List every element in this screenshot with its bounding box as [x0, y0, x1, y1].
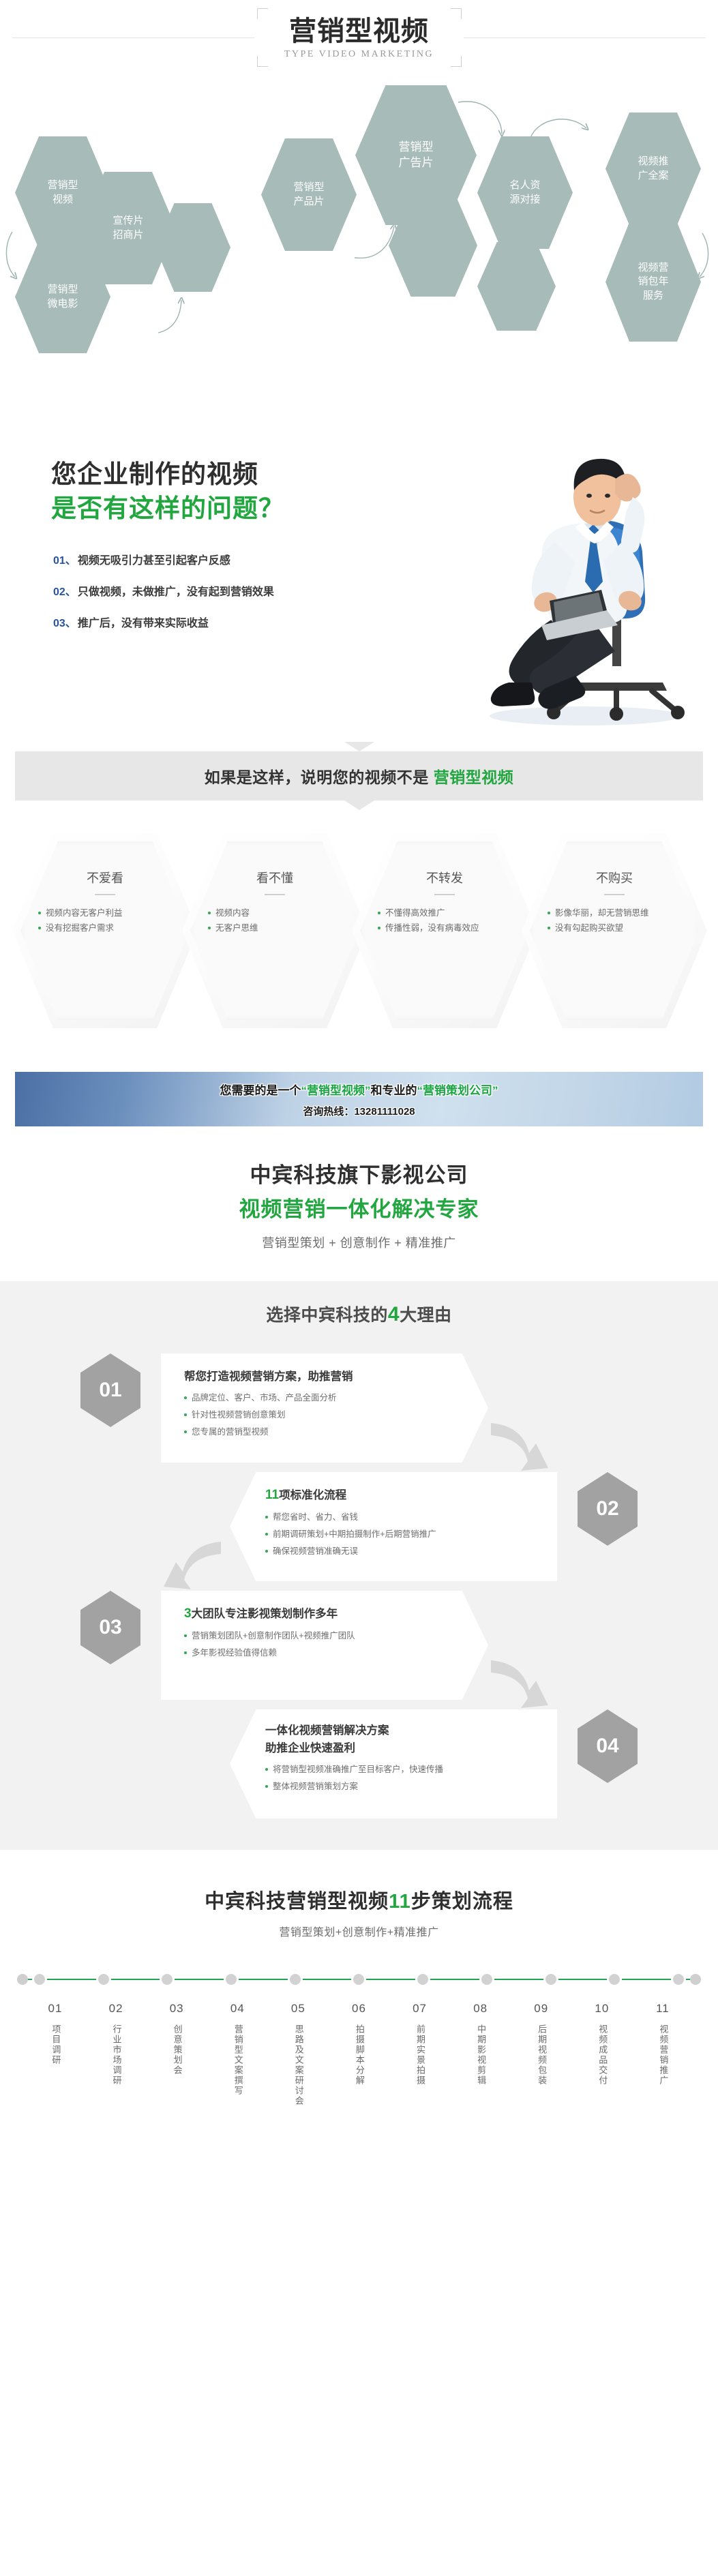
reasons-heading-prefix: 选择中宾科技的: [266, 1306, 388, 1325]
hex-label-line: 微电影: [47, 297, 78, 311]
step-label: 中期影视剪辑: [474, 2024, 487, 2086]
problem-card-dont-watch[interactable]: 不爱看 视频内容无客户利益 没有挖掘客户需求: [12, 833, 198, 1028]
step-number: 04: [216, 2002, 258, 2016]
hex-label-line: 源对接: [509, 193, 540, 207]
card-divider: [265, 894, 285, 895]
step-item-10[interactable]: 10 视频成品交付: [581, 2002, 623, 2106]
hex-celebrity-resources[interactable]: 名人资源对接: [477, 136, 573, 249]
reason-card-01[interactable]: 帮您打造视频营销方案，助推营销 品牌定位、客户、市场、产品全面分析 针对性视频营…: [161, 1353, 488, 1463]
reason-badge-01: 01: [80, 1353, 140, 1427]
page-title: 营销型视频: [267, 16, 452, 46]
step-item-03[interactable]: 03 创意策划会: [155, 2002, 198, 2106]
problem-item: 02、 只做视频，未做推广，没有起到营销效果: [53, 582, 274, 599]
problem-item-text: 视频无吸引力甚至引起客户反感: [78, 551, 230, 567]
step-item-05[interactable]: 05 思路及文案研讨会: [277, 2002, 319, 2106]
steps-heading-prefix: 中宾科技营销型视频: [205, 1891, 389, 1913]
reason-bullet: 确保视频营销准确无误: [265, 1543, 534, 1560]
hex-label-line: 招商片: [113, 228, 143, 242]
problem-card-dont-understand[interactable]: 看不懂 视频内容 无客户思维: [182, 833, 368, 1028]
timeline-dot: [353, 1974, 364, 1985]
reason-bullet: 营销策划团队+创意制作团队+视频推广团队: [184, 1628, 465, 1645]
reason-card-title-line2: 助推企业快速盈利: [265, 1739, 534, 1755]
hex-label-line: 营销型: [47, 283, 78, 297]
step-number: 05: [277, 2002, 319, 2016]
hex-label-line: 营销型: [47, 179, 78, 192]
blue-banner-quote2: “营销策划公司”: [417, 1084, 498, 1097]
steps-timeline: [19, 1965, 699, 1995]
timeline-dot: [162, 1974, 173, 1985]
intro-line1: 中宾科技旗下影视公司: [0, 1158, 718, 1188]
step-item-04[interactable]: 04 营销型文案撰写: [216, 2002, 258, 2106]
card-title: 不爱看: [35, 869, 175, 886]
reason-bullet: 整体视频营销策划方案: [265, 1778, 534, 1795]
card-bullet-list: 视频内容无客户利益 没有挖掘客户需求: [35, 906, 175, 936]
step-label: 营销型文案撰写: [231, 2024, 244, 2096]
reason-badge-04: 04: [578, 1709, 638, 1783]
intro-line2: 视频营销一体化解决专家: [0, 1192, 718, 1223]
card-bullet: 不懂得高效推广: [378, 906, 514, 921]
reason-card-04[interactable]: 一体化视频营销解决方案 助推企业快速盈利 将营销型视频准确推广至目标客户，快速传…: [230, 1709, 557, 1818]
reason-card-title-accent: 11: [265, 1488, 279, 1502]
step-item-07[interactable]: 07 前期实景拍摄: [399, 2002, 441, 2106]
step-number: 09: [520, 2002, 563, 2016]
card-bullet: 传播性弱，没有病毒效应: [378, 921, 514, 936]
step-item-11[interactable]: 11 视频营销推广: [642, 2002, 684, 2106]
step-label: 视频成品交付: [595, 2024, 608, 2086]
steps-heading: 中宾科技营销型视频11步策划流程: [0, 1885, 718, 1914]
hero-divider-left: [12, 38, 254, 38]
timeline-dot: [290, 1974, 301, 1985]
reason-bullet-list: 帮您省时、省力、省钱 前期调研策划+中期拍摄制作+后期营销推广 确保视频营销准确…: [265, 1509, 534, 1560]
hex-label-line: 营销型: [293, 181, 324, 194]
hero-title-block: 营销型视频 TYPE VIDEO MARKETING: [257, 8, 462, 67]
card-content: 不爱看 视频内容无客户利益 没有挖掘客户需求: [35, 869, 175, 936]
problem-item: 03、 推广后，没有带来实际收益: [53, 614, 274, 630]
gray-banner-text: 如果是这样，说明您的视频不是 营销型视频: [205, 764, 513, 788]
card-content: 看不懂 视频内容 无客户思维: [205, 869, 344, 936]
card-bullet: 没有挖掘客户需求: [38, 921, 175, 936]
step-label: 拍摄脚本分解: [353, 2024, 365, 2086]
reason-bullet: 帮您省时、省力、省钱: [265, 1509, 534, 1526]
reason-row-4: 04 一体化视频营销解决方案 助推企业快速盈利 将营销型视频准确推广至目标客户，…: [0, 1700, 718, 1818]
card-title: 看不懂: [205, 869, 344, 886]
hex-product-film[interactable]: 营销型产品片: [261, 138, 357, 251]
steps-heading-number: 11: [389, 1891, 411, 1913]
reason-bullet: 多年影视经验值得信赖: [184, 1645, 465, 1662]
reason-row-1: 01 帮您打造视频营销方案，助推营销 品牌定位、客户、市场、产品全面分析 针对性…: [0, 1344, 718, 1463]
step-item-09[interactable]: 09 后期视频包装: [520, 2002, 563, 2106]
hex-label-line: 销包年: [638, 275, 668, 288]
problem-item: 01、 视频无吸引力甚至引起客户反感: [53, 551, 274, 567]
step-label: 项目调研: [49, 2024, 62, 2065]
timeline-dot: [673, 1974, 684, 1985]
reasons-heading-number: 4: [388, 1303, 400, 1326]
reason-card-title-accent: 3: [184, 1606, 192, 1621]
step-number: 03: [155, 2002, 198, 2016]
hex-label-line: 产品片: [293, 195, 324, 209]
reason-bullet: 将营销型视频准确推广至目标客户，快速传播: [265, 1761, 534, 1778]
gray-banner-wrapper: 如果是这样，说明您的视频不是 营销型视频: [0, 736, 718, 800]
step-label: 后期视频包装: [535, 2024, 548, 2086]
reason-card-title: 11项标准化流程: [265, 1486, 534, 1503]
card-bullet: 无客户思维: [208, 921, 344, 936]
hex-promotion-package[interactable]: 视频推广全案: [605, 113, 701, 225]
reason-row-3: 03 3大团队专注影视策划制作多年 营销策划团队+创意制作团队+视频推广团队 多…: [0, 1581, 718, 1700]
step-number: 10: [581, 2002, 623, 2016]
company-intro-section: 中宾科技旗下影视公司 视频营销一体化解决专家 营销型策划 + 创意制作 + 精准…: [0, 1126, 718, 1281]
blue-banner-quote1: “营销型视频”: [301, 1084, 371, 1097]
gray-banner-prefix: 如果是这样，说明您的视频不是: [205, 768, 434, 786]
hex-label-line: 营销型: [399, 140, 434, 155]
step-number: 06: [338, 2002, 380, 2016]
reason-card-02[interactable]: 11项标准化流程 帮您省时、省力、省钱 前期调研策划+中期拍摄制作+后期营销推广…: [230, 1472, 557, 1581]
problem-card-dont-share[interactable]: 不转发 不懂得高效推广 传播性弱，没有病毒效应: [352, 833, 537, 1028]
reason-card-title-text: 大团队专注影视策划制作多年: [192, 1608, 338, 1620]
step-item-06[interactable]: 06 拍摄脚本分解: [338, 2002, 380, 2106]
timeline-dot-row: [19, 1965, 699, 1985]
reason-card-body: 3大团队专注影视策划制作多年 营销策划团队+创意制作团队+视频推广团队 多年影视…: [161, 1591, 488, 1675]
hex-label-line: 广全案: [638, 169, 668, 183]
steps-subtitle: 营销型策划+创意制作+精准推广: [0, 1923, 718, 1939]
reason-badge-03: 03: [80, 1591, 140, 1664]
blue-banner-part2: 和专业的: [371, 1084, 417, 1097]
hero-divider-right: [464, 38, 706, 38]
reason-bullet: 针对性视频营销创意策划: [184, 1407, 465, 1424]
hex-label-line: 名人资: [509, 179, 540, 192]
card-bullet-list: 视频内容 无客户思维: [205, 906, 344, 936]
reason-card-body: 帮您打造视频营销方案，助推营销 品牌定位、客户、市场、产品全面分析 针对性视频营…: [161, 1353, 488, 1454]
reason-card-body: 11项标准化流程 帮您省时、省力、省钱 前期调研策划+中期拍摄制作+后期营销推广…: [230, 1472, 557, 1574]
reason-bullet: 前期调研策划+中期拍摄制作+后期营销推广: [265, 1526, 534, 1543]
step-label: 视频营销推广: [657, 2024, 670, 2086]
gray-banner-highlight: 营销型视频: [434, 768, 514, 786]
card-bullet: 影像华丽，却无营销思维: [548, 906, 684, 921]
card-content: 不购买 影像华丽，却无营销思维 没有勾起购买欲望: [545, 869, 684, 936]
step-item-01[interactable]: 01 项目调研: [34, 2002, 76, 2106]
reason-card-title-text: 项标准化流程: [279, 1489, 346, 1501]
step-number: 07: [399, 2002, 441, 2016]
hex-annual-service[interactable]: 视频营销包年服务: [605, 222, 701, 342]
corner-mark-bottom-left: [257, 56, 268, 67]
timeline-dot: [34, 1974, 45, 1985]
timeline-dot: [609, 1974, 620, 1985]
step-number: 11: [642, 2002, 684, 2016]
problem-item-text: 推广后，没有带来实际收益: [78, 614, 209, 630]
step-label: 行业市场调研: [110, 2024, 123, 2086]
notch-top-arrow: [344, 742, 374, 751]
card-bullet: 视频内容: [208, 906, 344, 921]
reason-bullet: 品牌定位、客户、市场、产品全面分析: [184, 1390, 465, 1407]
steps-list: 01 项目调研 02 行业市场调研 03 创意策划会 04 营销型文案撰写 05…: [19, 2002, 699, 2106]
blue-banner: 您需要的是一个“营销型视频”和专业的“营销策划公司” 咨询热线：13281111…: [15, 1072, 703, 1126]
hero-section: 营销型视频 TYPE VIDEO MARKETING 营销型视频: [0, 0, 718, 436]
problem-section: 您企业制作的视频 是否有这样的问题？ 01、 视频无吸引力甚至引起客户反感 02…: [0, 436, 718, 736]
hero-hex-grid: 营销型视频 宣传片招商片 营销型产品片 营销型广告片 名人资源对接 视频推广全案…: [0, 75, 718, 361]
problem-card-row: 不爱看 视频内容无客户利益 没有挖掘客户需求 看不懂 视频内容 无客户思维: [0, 833, 718, 1031]
reasons-heading-suffix: 大理由: [400, 1306, 452, 1325]
step-number: 02: [95, 2002, 137, 2016]
reasons-section: 选择中宾科技的4大理由 01 帮您打造视频营销方案，助推营销 品牌定位、客户、市…: [0, 1281, 718, 1850]
timeline-dot: [545, 1974, 556, 1985]
timeline-dot: [481, 1974, 492, 1985]
step-label: 思路及文案研讨会: [292, 2024, 305, 2106]
card-title: 不转发: [375, 869, 514, 886]
card-bullet: 没有勾起购买欲望: [548, 921, 684, 936]
reason-card-title: 3大团队专注影视策划制作多年: [184, 1604, 465, 1621]
blue-banner-headline: 您需要的是一个“营销型视频”和专业的“营销策划公司”: [220, 1081, 498, 1098]
problem-heading-line1: 您企业制作的视频: [51, 453, 258, 490]
card-title: 不购买: [545, 869, 684, 886]
reason-card-title: 一体化视频营销解决方案: [265, 1721, 534, 1737]
hex-label-line: 广告片: [399, 155, 434, 171]
blue-banner-wrapper: 您需要的是一个“营销型视频”和专业的“营销策划公司” 咨询热线：13281111…: [15, 1072, 703, 1126]
corner-mark-top-right: [451, 8, 462, 19]
hex-label-line: 视频: [47, 193, 78, 207]
hex-decorative-b: [477, 242, 556, 331]
problem-card-dont-buy[interactable]: 不购买 影像华丽，却无营销思维 没有勾起购买欲望: [522, 833, 707, 1028]
blue-banner-part1: 您需要的是一个: [220, 1084, 301, 1097]
step-number: 01: [34, 2002, 76, 2016]
step-label: 前期实景拍摄: [413, 2024, 426, 2086]
reason-card-03[interactable]: 3大团队专注影视策划制作多年 营销策划团队+创意制作团队+视频推广团队 多年影视…: [161, 1591, 488, 1700]
step-item-02[interactable]: 02 行业市场调研: [95, 2002, 137, 2106]
timeline-dot: [226, 1974, 237, 1985]
businessman-photo: [469, 440, 701, 726]
reasons-heading: 选择中宾科技的4大理由: [0, 1302, 718, 1326]
reason-bullet: 您专属的营销型视频: [184, 1424, 465, 1441]
problem-item-number: 03、: [53, 614, 76, 630]
card-bullet-list: 不懂得高效推广 传播性弱，没有病毒效应: [375, 906, 514, 936]
card-divider: [95, 894, 115, 895]
notch-bottom-arrow: [344, 800, 374, 810]
reason-row-2: 02 11项标准化流程 帮您省时、省力、省钱 前期调研策划+中期拍摄制作+后期营…: [0, 1463, 718, 1581]
reason-bullet-list: 将营销型视频准确推广至目标客户，快速传播 整体视频营销策划方案: [265, 1761, 534, 1795]
problem-item-number: 02、: [53, 582, 76, 599]
card-bullet: 视频内容无客户利益: [38, 906, 175, 921]
step-number: 08: [460, 2002, 502, 2016]
card-divider: [434, 894, 455, 895]
hotline-text[interactable]: 咨询热线：13281111028: [303, 1104, 415, 1118]
intro-line3: 营销型策划 + 创意制作 + 精准推广: [0, 1233, 718, 1251]
reason-bullet-list: 品牌定位、客户、市场、产品全面分析 针对性视频营销创意策划 您专属的营销型视频: [184, 1390, 465, 1441]
problem-item-text: 只做视频，未做推广，没有起到营销效果: [78, 582, 274, 599]
step-label: 创意策划会: [170, 2024, 183, 2076]
reason-card-body: 一体化视频营销解决方案 助推企业快速盈利 将营销型视频准确推广至目标客户，快速传…: [230, 1709, 557, 1809]
problem-heading-line2: 是否有这样的问题？: [51, 488, 284, 524]
steps-section: 中宾科技营销型视频11步策划流程 营销型策划+创意制作+精准推广: [0, 1850, 718, 2133]
landing-page: 营销型视频 TYPE VIDEO MARKETING 营销型视频: [0, 0, 718, 2133]
hex-label-line: 视频营: [638, 261, 668, 275]
card-divider: [604, 894, 625, 895]
problem-list: 01、 视频无吸引力甚至引起客户反感 02、 只做视频，未做推广，没有起到营销效…: [53, 551, 274, 645]
problem-item-number: 01、: [53, 551, 76, 567]
gray-banner: 如果是这样，说明您的视频不是 营销型视频: [15, 751, 703, 800]
hex-label-line: 视频推: [638, 155, 668, 168]
steps-heading-suffix: 步策划流程: [411, 1891, 513, 1913]
reason-badge-02: 02: [578, 1472, 638, 1546]
corner-mark-bottom-right: [451, 56, 462, 67]
card-bullet-list: 影像华丽，却无营销思维 没有勾起购买欲望: [545, 906, 684, 936]
reason-card-title: 帮您打造视频营销方案，助推营销: [184, 1367, 465, 1383]
step-item-08[interactable]: 08 中期影视剪辑: [460, 2002, 502, 2106]
hex-label-line: 服务: [638, 289, 668, 303]
reason-bullet-list: 营销策划团队+创意制作团队+视频推广团队 多年影视经验值得信赖: [184, 1628, 465, 1662]
hex-label-line: 宣传片: [113, 214, 143, 228]
card-content: 不转发 不懂得高效推广 传播性弱，没有病毒效应: [375, 869, 514, 936]
page-subtitle: TYPE VIDEO MARKETING: [267, 49, 452, 60]
corner-mark-top-left: [257, 8, 268, 19]
timeline-dot: [417, 1974, 428, 1985]
timeline-dot: [98, 1974, 109, 1985]
